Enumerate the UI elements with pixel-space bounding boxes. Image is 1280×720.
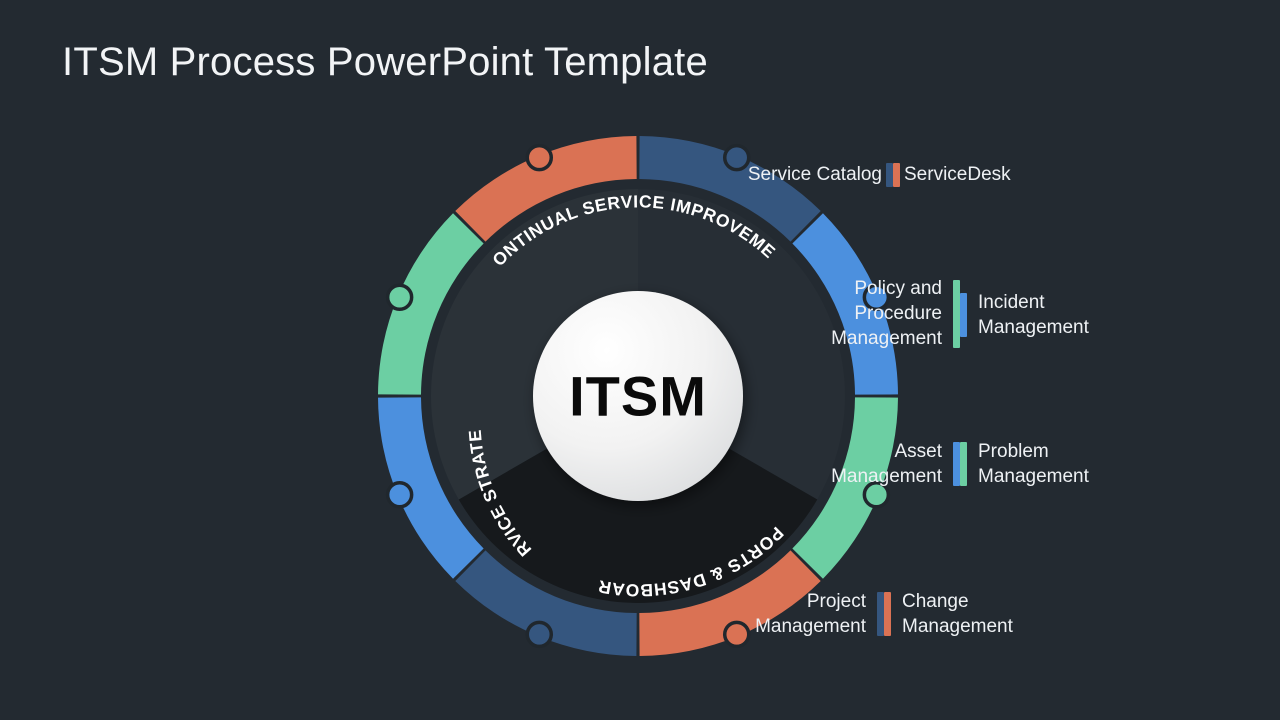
legend-item-label: Problem Management — [978, 439, 1089, 489]
legend-item-label: Asset Management — [831, 439, 942, 489]
legend-item-label: Incident Management — [978, 290, 1089, 340]
legend-item-service-catalog[interactable]: Service Catalog — [748, 162, 900, 187]
legend-color-bar — [953, 442, 960, 486]
legend-color-bar — [953, 280, 960, 348]
segment-marker[interactable] — [388, 285, 412, 309]
legend-item-label: Policy and Procedure Management — [831, 276, 942, 351]
legend-item-asset-management[interactable]: Asset Management — [831, 439, 960, 489]
segment-marker[interactable] — [527, 622, 551, 646]
legend-color-bar — [960, 442, 967, 486]
center-hub-label: ITSM — [569, 365, 707, 428]
legend-color-bar — [877, 592, 884, 636]
legend-item-label: Service Catalog — [748, 162, 882, 187]
legend-item-incident-management[interactable]: Incident Management — [960, 290, 1089, 340]
itsm-process-wheel: ITSM CONTINUAL SERVICE IMPROVEMENT REPOR… — [0, 0, 1280, 720]
legend-item-servicedesk[interactable]: ServiceDesk — [886, 162, 1011, 187]
legend-item-project-management[interactable]: Project Management — [755, 589, 884, 639]
segment-marker[interactable] — [725, 146, 749, 170]
legend-item-label: Change Management — [902, 589, 1013, 639]
legend-item-problem-management[interactable]: Problem Management — [960, 439, 1089, 489]
legend-item-change-management[interactable]: Change Management — [884, 589, 1013, 639]
legend-color-bar — [884, 592, 891, 636]
legend-item-label: Project Management — [755, 589, 866, 639]
legend-color-bar — [960, 293, 967, 337]
legend-item-policy-procedure-management[interactable]: Policy and Procedure Management — [831, 276, 960, 351]
legend-color-bar — [886, 163, 893, 187]
legend-item-label: ServiceDesk — [904, 162, 1011, 187]
slide-canvas: ITSM Process PowerPoint Template ITSM CO… — [0, 0, 1280, 720]
segment-marker[interactable] — [527, 146, 551, 170]
segment-marker[interactable] — [725, 622, 749, 646]
segment-marker[interactable] — [388, 483, 412, 507]
